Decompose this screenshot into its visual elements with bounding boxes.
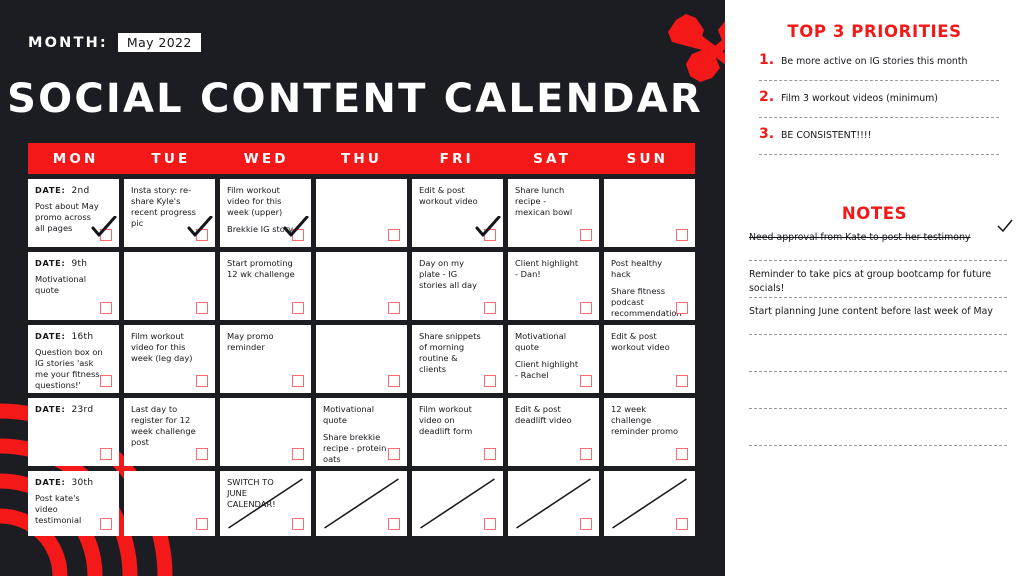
task-checkbox[interactable] xyxy=(676,448,688,460)
task-checkbox[interactable] xyxy=(580,302,592,314)
social-content-calendar-page: MONTH: May 2022 SOCIAL CONTENT CALENDAR … xyxy=(0,0,1024,576)
note-divider xyxy=(749,371,1007,372)
cell-task: SWITCH TO JUNE CALENDAR! xyxy=(227,477,295,510)
cell-task-list: Start promoting 12 wk challenge xyxy=(227,258,304,280)
date-value: 30th xyxy=(71,478,93,488)
calendar-cell[interactable]: Post healthy hackShare fitness podcast r… xyxy=(604,252,695,320)
calendar-grid: MONTUEWEDTHUFRISATSUN DATE:2ndPost about… xyxy=(28,143,695,536)
cell-task-list: Day on my plate - IG stories all day xyxy=(419,258,496,291)
cell-task: Post healthy hack xyxy=(611,258,679,280)
cell-task: May promo reminder xyxy=(227,331,295,353)
note-item[interactable]: Reminder to take pics at group bootcamp … xyxy=(749,268,1007,305)
priorities-list: 1.Be more active on IG stories this mont… xyxy=(759,52,999,163)
task-checkbox[interactable] xyxy=(676,518,688,530)
date-value: 16th xyxy=(71,332,93,342)
priority-text: BE CONSISTENT!!!! xyxy=(781,130,871,142)
calendar-week-row: DATE:30thPost kate's video testimonialSW… xyxy=(28,471,695,536)
task-checkbox[interactable] xyxy=(100,518,112,530)
notes-title: NOTES xyxy=(725,204,1024,223)
date-label: DATE: xyxy=(35,258,65,268)
cell-task-list: SWITCH TO JUNE CALENDAR! xyxy=(227,477,304,510)
task-checkbox[interactable] xyxy=(388,302,400,314)
priority-row: 2.Film 3 workout videos (minimum) xyxy=(759,89,999,115)
task-checkbox[interactable] xyxy=(196,229,208,241)
task-checkbox[interactable] xyxy=(484,375,496,387)
priority-row: 1.Be more active on IG stories this mont… xyxy=(759,52,999,78)
cell-task-list: Share lunch recipe - mexican bowl xyxy=(515,185,592,218)
calendar-cell[interactable] xyxy=(124,471,215,536)
day-header-sat: SAT xyxy=(504,143,599,174)
priority-divider xyxy=(759,117,999,118)
calendar-cell[interactable]: DATE:9thMotivational quote xyxy=(28,252,119,320)
cell-task: Brekkie IG story xyxy=(227,224,295,235)
priority-divider xyxy=(759,154,999,155)
cell-task-list: May promo reminder xyxy=(227,331,304,353)
day-header-fri: FRI xyxy=(409,143,504,174)
task-checkbox[interactable] xyxy=(484,518,496,530)
calendar-cell[interactable]: Client highlight - Dan! xyxy=(508,252,599,320)
date-value: 9th xyxy=(71,259,87,269)
cell-task: Edit & post workout video xyxy=(419,185,487,207)
cell-date-line: DATE:30th xyxy=(35,477,112,488)
cell-task: 12 week challenge reminder promo xyxy=(611,404,679,437)
date-label: DATE: xyxy=(35,404,65,414)
cell-task: Last day to register for 12 week challen… xyxy=(131,404,199,448)
calendar-cell[interactable]: DATE:16thQuestion box on IG stories 'ask… xyxy=(28,325,119,393)
task-checkbox[interactable] xyxy=(100,229,112,241)
task-checkbox[interactable] xyxy=(388,375,400,387)
calendar-cell[interactable] xyxy=(604,471,695,536)
cell-task-list: Client highlight - Dan! xyxy=(515,258,592,280)
cell-task: Edit & post workout video xyxy=(611,331,679,353)
cell-task: Start promoting 12 wk challenge xyxy=(227,258,295,280)
task-checkbox[interactable] xyxy=(676,229,688,241)
task-checkbox[interactable] xyxy=(196,302,208,314)
calendar-cell[interactable]: Edit & post deadlift video xyxy=(508,398,599,466)
calendar-cell[interactable] xyxy=(412,471,503,536)
task-checkbox[interactable] xyxy=(580,518,592,530)
calendar-cell[interactable]: Share snippets of morning routine & clie… xyxy=(412,325,503,393)
task-checkbox[interactable] xyxy=(388,229,400,241)
calendar-weeks: DATE:2ndPost about May promo across all … xyxy=(28,179,695,536)
cell-date-line: DATE:16th xyxy=(35,331,112,342)
calendar-cell[interactable] xyxy=(508,471,599,536)
cell-task-list: Last day to register for 12 week challen… xyxy=(131,404,208,448)
cell-task-list: Film workout video on deadlift form xyxy=(419,404,496,437)
notes-list: Need approval from Kate to post her test… xyxy=(749,231,1007,453)
note-text xyxy=(749,379,1007,406)
calendar-cell[interactable]: Film workout video for this week (leg da… xyxy=(124,325,215,393)
calendar-cell[interactable]: DATE:2ndPost about May promo across all … xyxy=(28,179,119,247)
calendar-cell[interactable]: Film workout video for this week (upper)… xyxy=(220,179,311,247)
priority-item[interactable]: 1.Be more active on IG stories this mont… xyxy=(759,52,999,89)
note-item[interactable]: Start planning June content before last … xyxy=(749,305,1007,342)
calendar-week-row: DATE:9thMotivational quoteStart promotin… xyxy=(28,252,695,320)
cell-task-list: Edit & post deadlift video xyxy=(515,404,592,426)
day-header-sun: SUN xyxy=(600,143,695,174)
day-header-tue: TUE xyxy=(123,143,218,174)
calendar-cell[interactable]: Film workout video on deadlift form xyxy=(412,398,503,466)
calendar-cell[interactable] xyxy=(316,471,407,536)
task-checkbox[interactable] xyxy=(580,375,592,387)
cell-task: Film workout video for this week (leg da… xyxy=(131,331,199,364)
priority-item[interactable]: 3.BE CONSISTENT!!!! xyxy=(759,126,999,163)
calendar-cell[interactable]: May promo reminder xyxy=(220,325,311,393)
calendar-cell[interactable]: 12 week challenge reminder promo xyxy=(604,398,695,466)
note-text xyxy=(749,416,1007,443)
cell-task: Question box on IG stories 'ask me your … xyxy=(35,347,103,391)
calendar-cell[interactable]: Last day to register for 12 week challen… xyxy=(124,398,215,466)
calendar-cell[interactable]: Insta story: re-share Kyle's recent prog… xyxy=(124,179,215,247)
note-text xyxy=(749,342,1007,369)
date-label: DATE: xyxy=(35,185,65,195)
cell-task-list: Motivational quote xyxy=(35,274,112,296)
date-label: DATE: xyxy=(35,477,65,487)
note-text: Need approval from Kate to post her test… xyxy=(749,231,1007,258)
calendar-cell[interactable]: Share lunch recipe - mexican bowl xyxy=(508,179,599,247)
cell-task-list: Film workout video for this week (leg da… xyxy=(131,331,208,364)
cell-task: Film workout video on deadlift form xyxy=(419,404,487,437)
cell-task-list: Film workout video for this week (upper)… xyxy=(227,185,304,235)
calendar-cell[interactable]: Edit & post workout video xyxy=(604,325,695,393)
cell-task: Insta story: re-share Kyle's recent prog… xyxy=(131,185,199,229)
priority-number: 3. xyxy=(759,126,773,142)
day-header-mon: MON xyxy=(28,143,123,174)
priority-row: 3.BE CONSISTENT!!!! xyxy=(759,126,999,152)
cell-task: Motivational quote xyxy=(323,404,391,426)
note-item[interactable] xyxy=(749,379,1007,416)
cell-date-line: DATE:2nd xyxy=(35,185,112,196)
day-of-week-header: MONTUEWEDTHUFRISATSUN xyxy=(28,143,695,174)
cell-task-list: 12 week challenge reminder promo xyxy=(611,404,688,437)
cell-date-line: DATE:23rd xyxy=(35,404,112,415)
month-row: MONTH: May 2022 xyxy=(28,33,201,52)
priority-text: Film 3 workout videos (minimum) xyxy=(781,93,938,105)
cell-task: Post about May promo across all pages xyxy=(35,201,103,234)
calendar-cell[interactable]: Start promoting 12 wk challenge xyxy=(220,252,311,320)
task-checkbox[interactable] xyxy=(676,375,688,387)
task-checkbox[interactable] xyxy=(292,448,304,460)
task-checkbox[interactable] xyxy=(292,302,304,314)
task-checkbox[interactable] xyxy=(100,302,112,314)
note-text: Reminder to take pics at group bootcamp … xyxy=(749,268,1007,295)
priority-divider xyxy=(759,80,999,81)
day-header-wed: WED xyxy=(219,143,314,174)
sidebar-panel: TOP 3 PRIORITIES 1.Be more active on IG … xyxy=(725,0,1024,576)
calendar-cell[interactable]: Motivational quoteClient highlight - Rac… xyxy=(508,325,599,393)
note-divider xyxy=(749,297,1007,298)
task-checkbox[interactable] xyxy=(388,448,400,460)
cell-task: Share fitness podcast recommendation xyxy=(611,286,679,319)
calendar-cell[interactable]: DATE:23rd xyxy=(28,398,119,466)
cell-task: Client highlight - Rachel xyxy=(515,359,583,381)
task-checkbox[interactable] xyxy=(292,518,304,530)
task-checkbox[interactable] xyxy=(100,375,112,387)
task-checkbox[interactable] xyxy=(100,448,112,460)
priority-text: Be more active on IG stories this month xyxy=(781,56,968,68)
cell-date-line: DATE:9th xyxy=(35,258,112,269)
priority-number: 2. xyxy=(759,89,773,105)
day-header-thu: THU xyxy=(314,143,409,174)
calendar-week-row: DATE:23rdLast day to register for 12 wee… xyxy=(28,398,695,466)
note-divider xyxy=(749,408,1007,409)
note-divider xyxy=(749,334,1007,335)
task-checkbox[interactable] xyxy=(484,302,496,314)
calendar-cell[interactable]: Day on my plate - IG stories all day xyxy=(412,252,503,320)
task-checkbox[interactable] xyxy=(580,229,592,241)
task-checkbox[interactable] xyxy=(388,518,400,530)
calendar-cell[interactable] xyxy=(316,325,407,393)
cell-task: Film workout video for this week (upper) xyxy=(227,185,295,218)
task-checkbox[interactable] xyxy=(292,229,304,241)
calendar-cell[interactable] xyxy=(316,252,407,320)
note-checkmark-icon xyxy=(997,219,1013,233)
task-checkbox[interactable] xyxy=(676,302,688,314)
priorities-title: TOP 3 PRIORITIES xyxy=(725,22,1024,41)
note-divider xyxy=(749,445,1007,446)
calendar-cell[interactable] xyxy=(604,179,695,247)
task-checkbox[interactable] xyxy=(196,448,208,460)
priority-item[interactable]: 2.Film 3 workout videos (minimum) xyxy=(759,89,999,126)
date-label: DATE: xyxy=(35,331,65,341)
cell-task-list: Motivational quoteClient highlight - Rac… xyxy=(515,331,592,381)
calendar-cell[interactable] xyxy=(124,252,215,320)
calendar-cell[interactable]: Edit & post workout video xyxy=(412,179,503,247)
task-checkbox[interactable] xyxy=(196,375,208,387)
cell-task-list: Insta story: re-share Kyle's recent prog… xyxy=(131,185,208,229)
note-item[interactable]: Need approval from Kate to post her test… xyxy=(749,231,1007,268)
calendar-panel: MONTH: May 2022 SOCIAL CONTENT CALENDAR … xyxy=(0,0,725,576)
month-label: MONTH: xyxy=(28,35,108,51)
calendar-week-row: DATE:16thQuestion box on IG stories 'ask… xyxy=(28,325,695,393)
page-title: SOCIAL CONTENT CALENDAR xyxy=(0,76,710,122)
priority-number: 1. xyxy=(759,52,773,68)
calendar-cell[interactable] xyxy=(316,179,407,247)
cell-task: Edit & post deadlift video xyxy=(515,404,583,426)
note-text: Start planning June content before last … xyxy=(749,305,1007,332)
calendar-cell[interactable]: SWITCH TO JUNE CALENDAR! xyxy=(220,471,311,536)
note-item[interactable] xyxy=(749,416,1007,453)
cell-task-list: Share snippets of morning routine & clie… xyxy=(419,331,496,375)
cell-task: Share lunch recipe - mexican bowl xyxy=(515,185,583,218)
cell-task: Motivational quote xyxy=(515,331,583,353)
calendar-cell[interactable]: DATE:30thPost kate's video testimonial xyxy=(28,471,119,536)
cell-task: Motivational quote xyxy=(35,274,103,296)
task-checkbox[interactable] xyxy=(196,518,208,530)
date-value: 2nd xyxy=(71,186,89,196)
cell-task: Share brekkie recipe - protein oats xyxy=(323,432,391,465)
calendar-week-row: DATE:2ndPost about May promo across all … xyxy=(28,179,695,247)
cell-task: Client highlight - Dan! xyxy=(515,258,583,280)
month-value-field[interactable]: May 2022 xyxy=(118,33,201,52)
cell-task-list: Edit & post workout video xyxy=(419,185,496,207)
task-checkbox[interactable] xyxy=(292,375,304,387)
task-checkbox[interactable] xyxy=(484,448,496,460)
note-item[interactable] xyxy=(749,342,1007,379)
cell-task-list: Edit & post workout video xyxy=(611,331,688,353)
calendar-cell[interactable] xyxy=(220,398,311,466)
calendar-cell[interactable]: Motivational quoteShare brekkie recipe -… xyxy=(316,398,407,466)
task-checkbox[interactable] xyxy=(484,229,496,241)
note-divider xyxy=(749,260,1007,261)
cell-task: Day on my plate - IG stories all day xyxy=(419,258,487,291)
task-checkbox[interactable] xyxy=(580,448,592,460)
cell-task: Share snippets of morning routine & clie… xyxy=(419,331,487,375)
date-value: 23rd xyxy=(71,405,93,415)
cell-task: Post kate's video testimonial xyxy=(35,493,103,526)
